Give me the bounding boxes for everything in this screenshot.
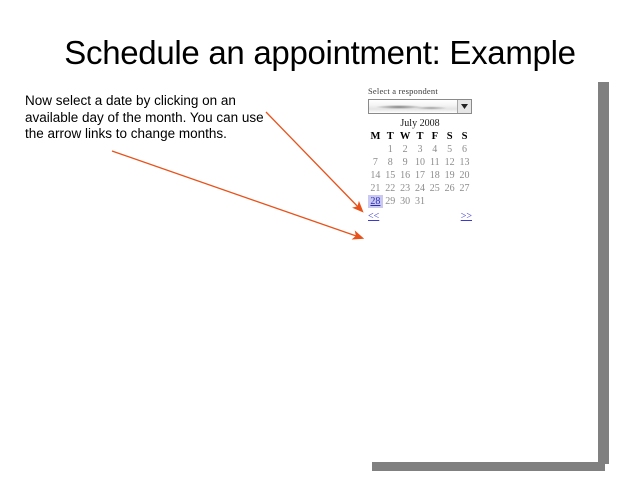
calendar-grid: M T W T F S S 1 2 3 4 5 6 xyxy=(368,130,472,208)
calendar-day[interactable]: 23 xyxy=(398,182,413,195)
calendar-day[interactable]: 29 xyxy=(383,195,398,208)
next-month-link[interactable]: >> xyxy=(461,211,472,222)
calendar-week-row: 1 2 3 4 5 6 xyxy=(368,143,472,156)
calendar-day[interactable]: 6 xyxy=(457,143,472,156)
calendar-day[interactable]: 30 xyxy=(398,195,413,208)
arrow-to-selected-day xyxy=(266,112,362,211)
calendar-day[interactable]: 27 xyxy=(457,182,472,195)
calendar-navigation: << >> xyxy=(368,211,472,222)
calendar-day[interactable]: 15 xyxy=(383,169,398,182)
arrow-to-prev-month-link xyxy=(112,151,362,238)
calendar-day[interactable]: 20 xyxy=(457,169,472,182)
respondent-label: Select a respondent xyxy=(368,86,480,96)
calendar-day[interactable]: 7 xyxy=(368,156,383,169)
calendar-day[interactable]: 4 xyxy=(427,143,442,156)
calendar-month-title: July 2008 xyxy=(368,118,472,129)
calendar-day xyxy=(368,143,383,156)
calendar-day-selected[interactable]: 28 xyxy=(368,195,383,208)
calendar-week-row: 14 15 16 17 18 19 20 xyxy=(368,169,472,182)
calendar-day xyxy=(457,195,472,208)
calendar-weekday-header: F xyxy=(427,130,442,143)
calendar-week-row: 28 29 30 31 xyxy=(368,195,472,208)
calendar-day[interactable]: 25 xyxy=(427,182,442,195)
chevron-down-icon[interactable] xyxy=(457,100,471,113)
calendar-day[interactable]: 22 xyxy=(383,182,398,195)
calendar-day[interactable]: 2 xyxy=(398,143,413,156)
calendar-weekday-row: M T W T F S S xyxy=(368,130,472,143)
calendar-day[interactable]: 1 xyxy=(383,143,398,156)
calendar-day[interactable]: 18 xyxy=(427,169,442,182)
calendar-day[interactable]: 5 xyxy=(442,143,457,156)
panel-shadow-right xyxy=(598,82,609,464)
calendar-weekday-header: T xyxy=(413,130,428,143)
prev-month-link[interactable]: << xyxy=(368,211,379,222)
callout-text: Now select a date by clicking on an avai… xyxy=(25,93,265,143)
calendar-week-row: 7 8 9 10 11 12 13 xyxy=(368,156,472,169)
calendar-day[interactable]: 31 xyxy=(413,195,428,208)
calendar-day xyxy=(442,195,457,208)
calendar-day[interactable]: 12 xyxy=(442,156,457,169)
slide-canvas: Schedule an appointment: Example Now sel… xyxy=(0,0,640,480)
calendar-weekday-header: S xyxy=(457,130,472,143)
respondent-select-value xyxy=(369,100,457,113)
calendar-day[interactable]: 11 xyxy=(427,156,442,169)
calendar-day[interactable]: 9 xyxy=(398,156,413,169)
calendar-day[interactable]: 10 xyxy=(413,156,428,169)
calendar-day[interactable]: 24 xyxy=(413,182,428,195)
calendar-weekday-header: S xyxy=(442,130,457,143)
calendar-day[interactable]: 21 xyxy=(368,182,383,195)
calendar-day[interactable]: 16 xyxy=(398,169,413,182)
panel-shadow-bottom xyxy=(372,462,605,471)
calendar-weekday-header: M xyxy=(368,130,383,143)
calendar-day[interactable]: 3 xyxy=(413,143,428,156)
calendar-weekday-header: W xyxy=(398,130,413,143)
calendar-day[interactable]: 13 xyxy=(457,156,472,169)
calendar-day[interactable]: 14 xyxy=(368,169,383,182)
calendar-day[interactable]: 19 xyxy=(442,169,457,182)
respondent-select[interactable] xyxy=(368,99,472,114)
calendar-day xyxy=(427,195,442,208)
appointment-widget: Select a respondent July 2008 M T W T F … xyxy=(368,86,480,222)
page-title: Schedule an appointment: Example xyxy=(30,34,610,72)
calendar-day[interactable]: 17 xyxy=(413,169,428,182)
calendar-week-row: 21 22 23 24 25 26 27 xyxy=(368,182,472,195)
calendar-day[interactable]: 8 xyxy=(383,156,398,169)
calendar-weekday-header: T xyxy=(383,130,398,143)
calendar-day[interactable]: 26 xyxy=(442,182,457,195)
